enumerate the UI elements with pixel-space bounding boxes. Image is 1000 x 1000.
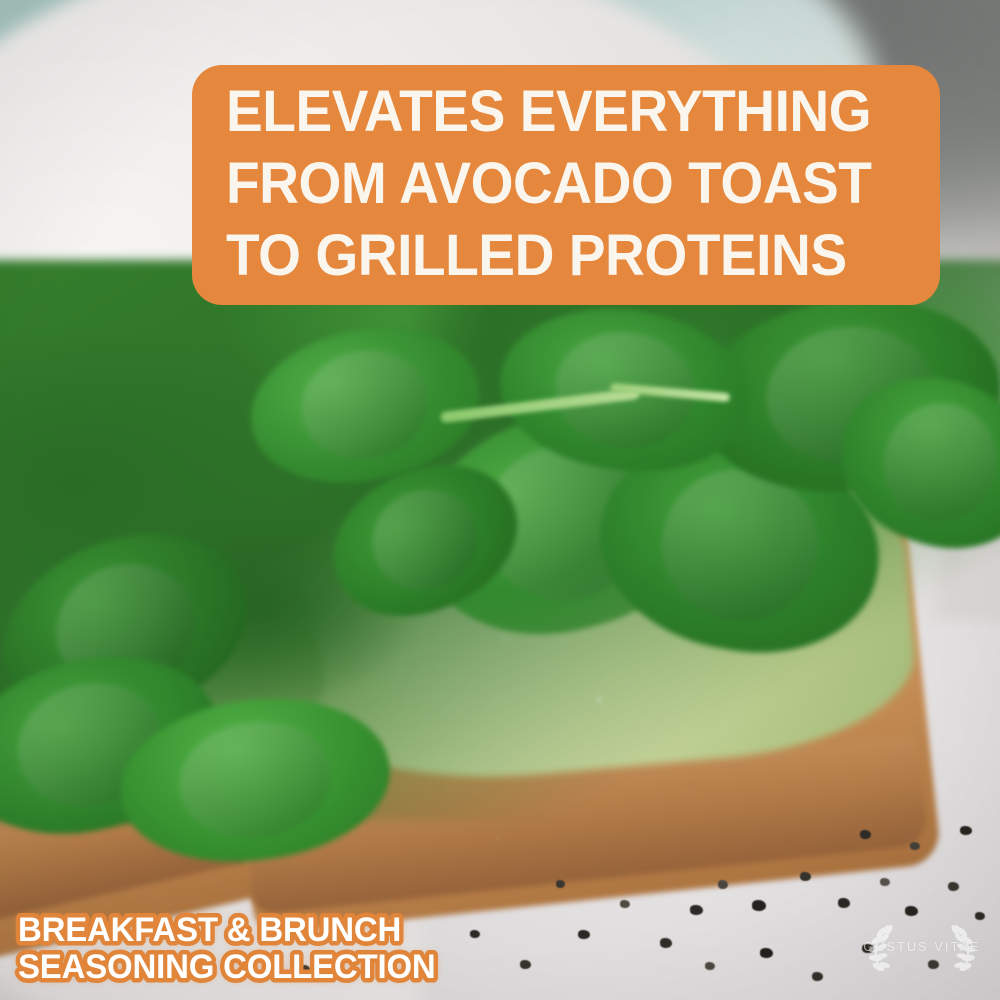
headline-banner: ELEVATES EVERYTHING FROM AVOCADO TOAST T… <box>192 65 940 305</box>
banner-line-2: FROM AVOCADO TOAST <box>226 148 904 220</box>
banner-line-1: ELEVATES EVERYTHING <box>226 76 904 148</box>
brand-watermark-text: GUSTUS VITAE <box>863 940 980 954</box>
marketing-graphic: ELEVATES EVERYTHING FROM AVOCADO TOAST T… <box>0 0 1000 1000</box>
collection-title: BREAKFAST & BRUNCH SEASONING COLLECTION <box>18 912 448 986</box>
collection-title-line-1: BREAKFAST & BRUNCH <box>18 912 436 949</box>
collection-title-line-2: SEASONING COLLECTION <box>18 949 436 986</box>
banner-line-3: TO GRILLED PROTEINS <box>226 220 904 292</box>
brand-watermark: GUSTUS VITAE <box>858 916 986 978</box>
